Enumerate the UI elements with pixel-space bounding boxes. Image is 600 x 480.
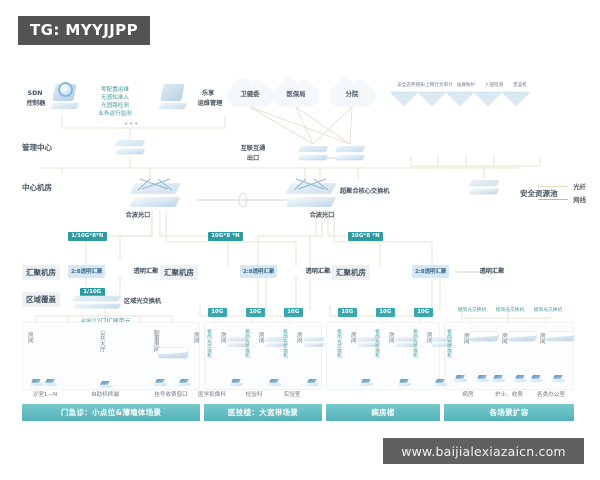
expansion-terminal-2b	[552, 374, 565, 383]
expansion-switch-top-label-2: 极简光交换机	[528, 308, 568, 315]
expansion-terminal-1b	[514, 374, 527, 383]
inpatient-room-label-0: 房间	[349, 326, 355, 350]
inpatient-room-label-1: 房间	[387, 326, 393, 350]
expansion-device-label-0: 病房	[450, 391, 486, 399]
expansion-room-label-2: 房间	[538, 328, 544, 350]
expansion-terminal-2a	[530, 374, 543, 383]
aggregation-box-2: 2:8透明汇聚	[412, 265, 449, 278]
feature-label-1: 无感知准入	[92, 94, 138, 102]
area-optical-switch	[74, 294, 120, 310]
cloud-fenyuan: 分院	[329, 85, 375, 107]
expansion-wall-ap-2	[546, 332, 574, 341]
inpatient-switch-label-0: 极简光交换机	[336, 326, 341, 360]
uplink-badge-1: 10G*8 *N	[208, 232, 243, 241]
ops-management-icon	[160, 84, 186, 110]
expansion-switch-top-label-1: 极简光交换机	[490, 308, 530, 315]
expansion-terminal-0b	[476, 374, 489, 383]
ellipsis-decoration: •••	[124, 120, 139, 128]
rowlabel-management-center: 管理中心	[22, 142, 52, 153]
aggregation-room-label-1: 汇聚机房	[160, 265, 198, 280]
expansion-room-label-1: 房间	[500, 328, 506, 350]
outpatient-terminal-0	[30, 378, 43, 387]
expansion-device-label-1: 护士、收费	[488, 391, 530, 399]
cloud-yibaoju: 医保局	[273, 85, 319, 107]
inpatient-switch-label-1: 极简光交换机	[374, 326, 379, 360]
ops-label-line1: 乐享	[190, 90, 226, 99]
area-badge-1: 10G	[246, 308, 265, 317]
aggregation-box-0: 2:8透明汇聚	[68, 265, 105, 278]
inpatient-terminal-1	[398, 378, 411, 387]
outpatient-wall-ap	[158, 348, 188, 358]
area-badge-0: 10G	[208, 308, 227, 317]
expansion-switch-label-side: 极简光交换机	[446, 326, 451, 360]
management-center-switch	[116, 138, 144, 156]
rowlabel-aggregation-room: 汇聚机房	[22, 265, 60, 280]
medtech-room-label-0: 房间	[219, 326, 225, 350]
uplink-badge-0: 1/10G*8*N	[68, 232, 107, 241]
security-item-label-4: 堡垒机	[505, 83, 535, 90]
expansion-wall-ap-1	[508, 332, 536, 341]
inpatient-terminal-2	[434, 378, 447, 387]
exit-router-left	[299, 144, 327, 162]
aggregation-room-label-2: 汇聚机房	[332, 265, 370, 280]
area-badge-3: 10G	[338, 308, 357, 317]
watermark: www.baijialexiazaicn.com	[383, 438, 584, 464]
security-pool-gateway	[470, 178, 498, 196]
core-switch-right-antenna	[290, 176, 332, 192]
outpatient-registration-terminal-1	[178, 378, 191, 387]
uplink-badge-2: 10G*8 *N	[348, 232, 383, 241]
medtech-switch-label-2: 极简光交换机	[282, 326, 287, 360]
rowlabel-area-coverage: 区域覆盖	[22, 292, 60, 307]
medtech-switch-label-0: 极简光交换机	[206, 326, 211, 360]
expansion-terminal-0a	[454, 374, 467, 383]
sdn-controller-label-line1: SDN	[22, 90, 48, 99]
outpatient-room-label-1: 公共大厅	[98, 326, 104, 356]
inpatient-switch-label-2: 极简光交换机	[412, 326, 417, 360]
section-footer-inpatient: 病房楼	[326, 404, 440, 421]
core-switch-left-antenna	[134, 176, 176, 192]
medtech-device-label-0: 医学影像科	[190, 391, 234, 399]
medtech-terminal-2	[306, 378, 319, 387]
diagram-canvas: TG: MYYJJPP	[0, 0, 600, 480]
outpatient-device-label-0: 诊室1—N	[18, 391, 72, 399]
sdn-ring-icon	[58, 82, 73, 97]
inpatient-terminal-0	[360, 378, 373, 387]
area-switch-label: 区域光交换机	[124, 298, 182, 307]
legend-line-cable	[538, 199, 568, 200]
feature-label-0: 零配置运维	[92, 86, 138, 94]
inpatient-room-label-2: 房间	[425, 326, 431, 350]
feature-label-3: 业务运行监测	[92, 110, 138, 118]
expansion-terminal-1a	[492, 374, 505, 383]
area-badge-5: 10G	[414, 308, 433, 317]
medtech-device-label-1: 检验科	[234, 391, 274, 399]
expansion-wall-ap-0	[470, 332, 498, 341]
tg-tag: TG: MYYJJPP	[18, 16, 150, 45]
medtech-terminal-0	[230, 378, 243, 387]
legend: 光纤 网线	[538, 182, 586, 208]
legend-line-fiber	[538, 186, 568, 187]
section-footer-outpatient: 门急诊：小点位&薄墙体场景	[22, 404, 200, 421]
section-footer-expansion: 各场景扩容	[444, 404, 574, 421]
panel-inpatient	[326, 322, 440, 390]
outpatient-device-label-1: 自助机终端	[80, 391, 130, 399]
legend-row-cable: 网线	[538, 195, 586, 204]
cloud-label-0: 卫健委	[227, 89, 273, 98]
medtech-room-label-2: 房间	[295, 326, 301, 350]
cloud-label-1: 医保局	[273, 89, 319, 98]
outpatient-registration-terminal-0	[154, 378, 167, 387]
exit-label-line1: 互联互通	[228, 145, 278, 154]
exit-label-line2: 出口	[228, 155, 278, 164]
outpatient-kiosk-terminal	[99, 380, 112, 389]
aggregation-box-1: 2:8透明汇聚	[240, 265, 277, 278]
outpatient-room-label-2: 配重房间	[152, 326, 158, 356]
medtech-switch-label-1: 极简光交换机	[244, 326, 249, 360]
legend-label-fiber: 光纤	[573, 182, 586, 191]
feature-label-2: 光固路检测	[92, 102, 138, 110]
legend-label-cable: 网线	[573, 195, 586, 204]
outpatient-room-label-3: 房间	[192, 326, 198, 350]
optical-port-left-label: 合波光口	[108, 212, 168, 221]
cloud-label-2: 分院	[329, 89, 375, 98]
cloud-weijianwei: 卫健委	[227, 85, 273, 107]
medtech-terminal-1	[268, 378, 281, 387]
rowlabel-central-machine-room: 中心机房	[22, 182, 52, 193]
core-switch-device-label: 超聚合核心交换机	[340, 188, 426, 197]
sdn-controller-label-line2: 控制器	[22, 100, 50, 109]
aggregation-side-label-2: 透明汇聚	[472, 268, 512, 277]
legend-row-fiber: 光纤	[538, 182, 586, 191]
medtech-optical-switch-2	[304, 336, 324, 348]
section-footer-medical-tech: 医技楼：大宽带场景	[204, 404, 322, 421]
outpatient-terminal-1	[44, 378, 57, 387]
optical-port-right-label: 合波光口	[292, 212, 352, 221]
medtech-room-label-1: 房间	[257, 326, 263, 350]
area-badge-4: 10G	[376, 308, 395, 317]
medtech-device-label-2: 实验室	[272, 391, 312, 399]
expansion-device-label-2: 各类办公室	[528, 391, 574, 399]
network-topology-diagram: 管理中心 中心机房 汇聚机房 区域覆盖 SDN 控制器 零配置运维 无感知准入 …	[0, 60, 600, 425]
ops-label-line2: 运维管理	[190, 100, 230, 109]
expansion-room-label-0: 房间	[462, 328, 468, 350]
security-appliance-icons	[388, 90, 560, 120]
expansion-switch-top-label-0: 极简光交换机	[452, 308, 492, 315]
exit-router-right	[336, 144, 364, 162]
outpatient-room-label-0: 房间	[26, 326, 32, 350]
area-badge-2: 10G	[284, 308, 303, 317]
